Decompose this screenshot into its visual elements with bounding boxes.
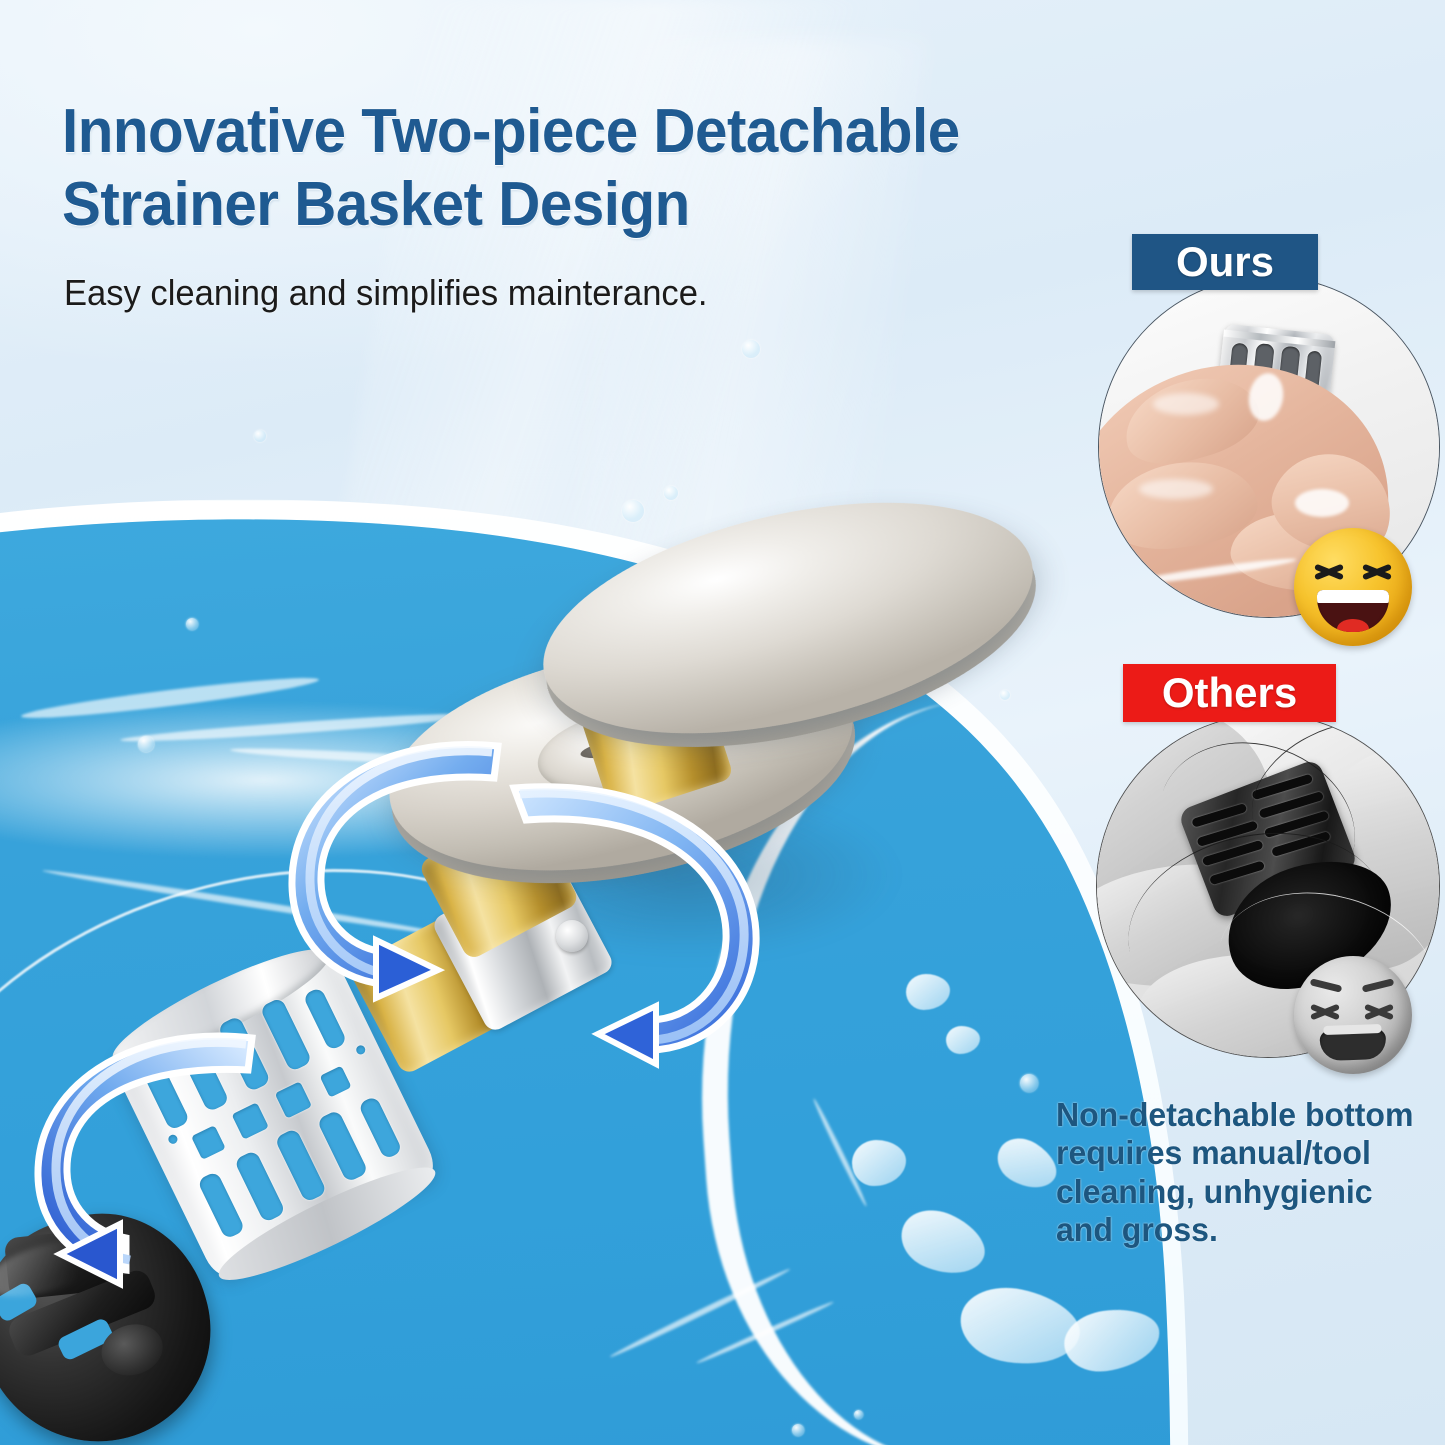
ours-finger-highlight [1139,479,1213,499]
water-droplet [742,340,760,358]
water-on-hand [1295,489,1349,517]
water-droplet [792,1424,804,1436]
product-infographic: Innovative Two-piece Detachable Strainer… [0,0,1445,1445]
others-badge: Others [1123,664,1336,722]
ours-badge: Ours [1132,234,1318,290]
water-droplet [186,618,198,630]
emoji-teeth [1317,590,1389,603]
emoji-eye-right-icon [1362,1000,1396,1022]
emoji-eye-left-icon [1308,1000,1342,1022]
water-droplet [854,1410,863,1419]
persevering-distressed-face-icon [1294,956,1412,1074]
emoji-mouth [1319,1029,1386,1061]
emoji-brow-left [1310,978,1343,993]
emoji-eye-left-icon [1312,560,1346,582]
water-droplet [138,736,154,752]
rotate-arrow-left [8,1002,308,1302]
others-caption: Non-detachable bottom requires manual/to… [1056,1096,1434,1249]
others-badge-label: Others [1162,669,1297,717]
water-droplet [1020,1074,1038,1092]
ours-finger-highlight [1153,393,1219,415]
water-droplet [254,430,266,442]
emoji-tongue [1337,619,1369,632]
page-subtitle: Easy cleaning and simplifies mainterance… [64,272,928,314]
ours-badge-label: Ours [1176,238,1274,286]
emoji-brow-right [1362,978,1395,993]
headline-line-2: Strainer Basket Design [62,168,1115,241]
rotate-arrow-center [270,726,570,1026]
grinning-squinting-face-icon [1294,528,1412,646]
emoji-mouth [1317,590,1389,632]
headline-line-1: Innovative Two-piece Detachable [62,95,1115,168]
emoji-eye-right-icon [1360,560,1394,582]
page-title: Innovative Two-piece Detachable Strainer… [62,95,1115,241]
